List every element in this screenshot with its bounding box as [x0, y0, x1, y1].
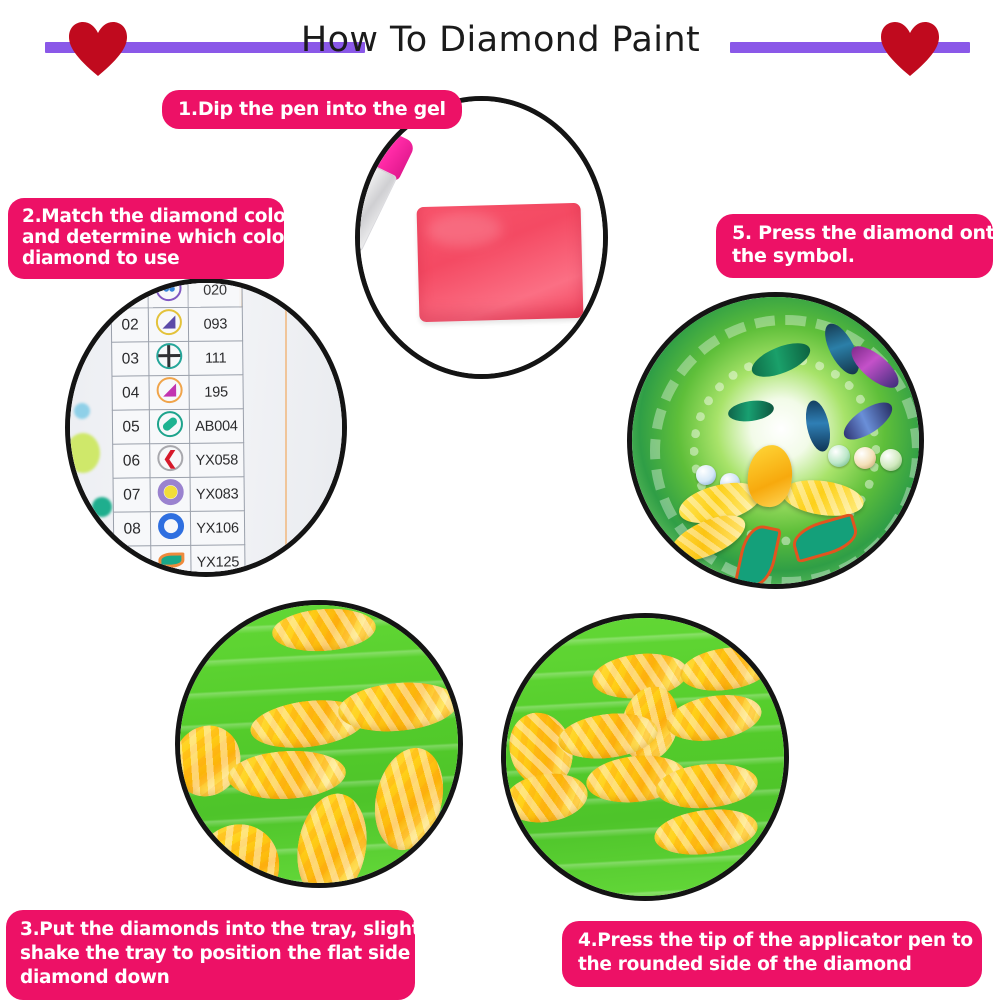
chart-cell-code: 195	[189, 375, 243, 410]
chart-cell-symbol	[151, 511, 191, 545]
canvas-color-speck	[74, 403, 90, 419]
table-row: 01 ●● 020	[111, 278, 242, 308]
step-4-photo	[501, 613, 789, 901]
canvas-color-speck	[68, 519, 90, 537]
chart-cell-number: 04	[112, 376, 150, 410]
chart-cell-number: 01	[111, 278, 149, 308]
chart-cell-symbol	[150, 409, 190, 443]
chart-cell-number: 05	[112, 410, 150, 444]
chart-cell-code: YX083	[190, 477, 244, 512]
step-3-label-line-2: shake the tray to position the flat side…	[20, 942, 401, 966]
step-4-label-line-2: the rounded side of the diamond	[578, 953, 966, 977]
triangle-down-left-icon	[156, 377, 182, 403]
chart-cell-code: AB004	[189, 409, 243, 444]
step-5-label-line-2: the symbol.	[732, 245, 977, 268]
page-header: How To Diamond Paint	[0, 0, 1001, 84]
chart-cell-symbol	[149, 375, 189, 409]
table-row: 02 093	[111, 307, 242, 342]
step-1-photo	[355, 96, 608, 379]
diamond-gem	[828, 445, 850, 467]
canvas-color-speck	[92, 497, 112, 517]
step-3-label-line-1: 3.Put the diamonds into the tray, slight…	[20, 918, 401, 942]
step-2-label-line-1: 2.Match the diamond color	[22, 206, 268, 227]
chart-cell-number: 07	[113, 478, 151, 512]
slanted-pill-icon	[156, 411, 182, 437]
canvas-guide-line	[285, 278, 287, 577]
chevron-left-icon: ❮	[157, 445, 183, 471]
step-2-label-line-3: diamond to use	[22, 248, 268, 269]
table-row: 09 YX125	[114, 545, 245, 577]
chart-cell-symbol: ●●	[148, 278, 188, 308]
canvas-color-speck	[66, 433, 100, 473]
page-title: How To Diamond Paint	[0, 18, 1001, 62]
step-2-label-line-2: and determine which color	[22, 227, 268, 248]
color-symbol-chart: 01 ●● 020 02	[110, 278, 245, 577]
step-2-label: 2.Match the diamond color and determine …	[8, 198, 284, 279]
step-3-photo	[175, 600, 463, 888]
diamond-gem	[696, 465, 716, 485]
pink-gel-square	[417, 203, 584, 322]
color-chart-body: 01 ●● 020 02	[111, 278, 245, 577]
chart-cell-symbol	[148, 307, 188, 341]
chart-cell-symbol	[151, 545, 191, 577]
step-5-label: 5. Press the diamond onto the symbol.	[716, 214, 993, 278]
step-5-photo	[627, 292, 924, 589]
leaf-outline-icon	[158, 547, 184, 573]
step-3-label: 3.Put the diamonds into the tray, slight…	[6, 910, 415, 1000]
chart-cell-code: 020	[188, 278, 242, 307]
pen-barrel	[355, 162, 398, 252]
diamond-gem	[854, 447, 876, 469]
table-row: 05 AB004	[112, 409, 243, 444]
chart-cell-symbol: ❮	[150, 443, 190, 477]
diamond-gem	[880, 449, 902, 471]
chart-cell-code: YX125	[191, 545, 245, 577]
chart-cell-number: 08	[113, 512, 151, 546]
chart-cell-number: 06	[113, 444, 151, 478]
step-1-label-line-1: 1.Dip the pen into the gel	[178, 97, 446, 121]
dot-in-ring-icon	[157, 479, 183, 505]
step-1-label: 1.Dip the pen into the gel	[162, 90, 462, 129]
step-5-label-line-1: 5. Press the diamond onto	[732, 222, 977, 245]
table-row: 03 111	[112, 341, 243, 376]
chart-cell-number: 02	[111, 308, 149, 342]
chart-cell-code: YX058	[190, 443, 244, 478]
step-2-photo: 01 ●● 020 02	[65, 278, 347, 577]
chart-cell-code: 093	[188, 307, 242, 342]
open-donut-icon	[158, 513, 184, 539]
chart-cell-number: 09	[114, 546, 152, 577]
cross-plus-icon	[156, 343, 182, 369]
chart-cell-code: YX106	[190, 511, 244, 546]
table-row: 07 YX083	[113, 477, 244, 512]
table-row: 04 195	[112, 375, 243, 410]
chart-cell-symbol	[150, 477, 190, 511]
double-dot-circle-icon: ●●	[155, 278, 181, 301]
step-4-label: 4.Press the tip of the applicator pen to…	[562, 921, 982, 987]
table-row: 06 ❮ YX058	[113, 443, 244, 478]
chart-cell-code: 111	[189, 341, 243, 376]
step-4-label-line-1: 4.Press the tip of the applicator pen to	[578, 929, 966, 953]
step-3-label-line-3: diamond down	[20, 966, 401, 990]
pen-neck	[355, 236, 358, 277]
chart-cell-symbol	[149, 341, 189, 375]
triangle-down-left-icon	[155, 309, 181, 335]
table-row: 08 YX106	[113, 511, 244, 546]
chart-cell-number: 03	[112, 342, 150, 376]
